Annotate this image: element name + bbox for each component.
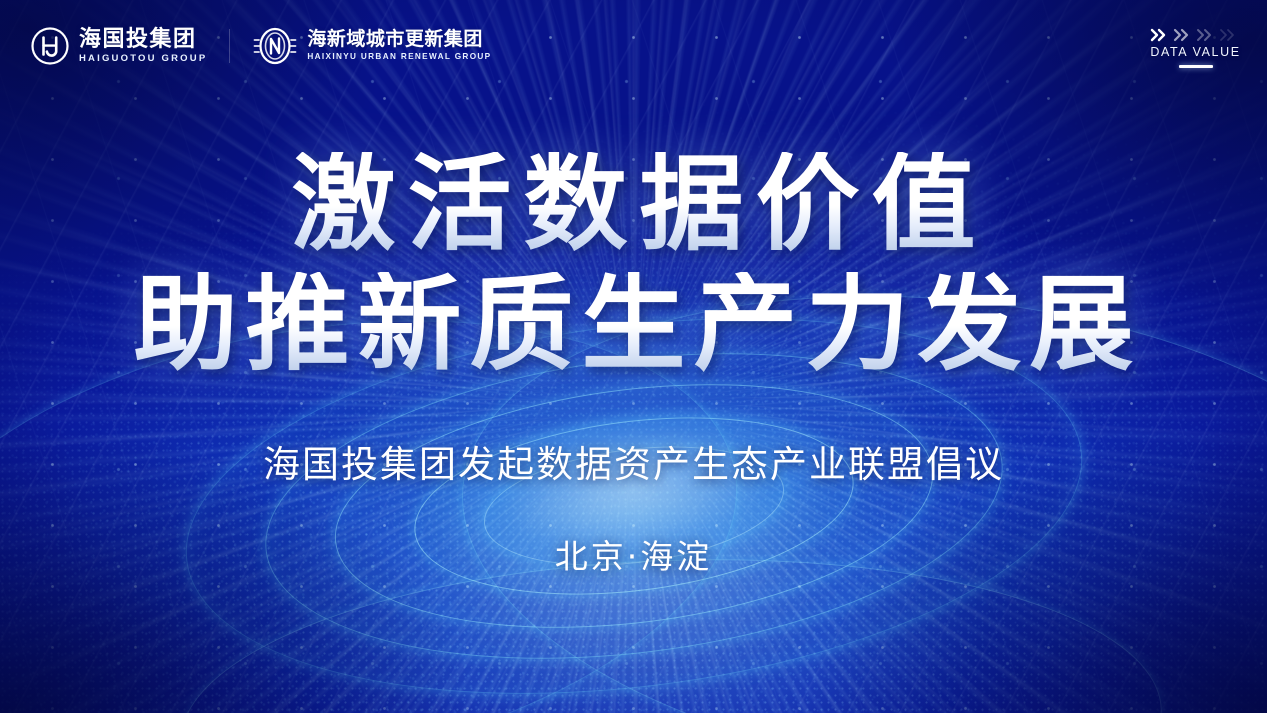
- double-chevron-right-icon: [1173, 28, 1195, 42]
- logo-haixinyu-en: HAIXINYU URBAN RENEWAL GROUP: [307, 53, 491, 61]
- double-chevron-right-icon: [1219, 28, 1241, 42]
- data-value-badge: DATA VALUE: [1150, 28, 1241, 68]
- logo-haiguotou[interactable]: 海国投集团 HAIGUOTOU GROUP: [30, 26, 207, 66]
- logo-haixinyu[interactable]: 海新域城市更新集团 HAIXINYU URBAN RENEWAL GROUP: [252, 26, 491, 66]
- poster-canvas: 海国投集团 HAIGUOTOU GROUP 海新域城市更新集团: [0, 0, 1267, 713]
- logo-haiguotou-en: HAIGUOTOU GROUP: [79, 54, 207, 64]
- subtitle: 海国投集团发起数据资产生态产业联盟倡议: [0, 434, 1267, 488]
- poster-content: 海国投集团 HAIGUOTOU GROUP 海新域城市更新集团: [0, 0, 1267, 713]
- data-value-underline: [1179, 65, 1213, 68]
- headline-line-2: 助推新质生产力发展: [0, 272, 1267, 376]
- logo-bar: 海国投集团 HAIGUOTOU GROUP 海新域城市更新集团: [30, 26, 491, 66]
- double-chevron-right-icon: [1196, 28, 1218, 42]
- data-value-label: DATA VALUE: [1150, 45, 1240, 59]
- logo-haiguotou-cn: 海国投集团: [79, 28, 207, 50]
- logo-haixinyu-text: 海新域城市更新集团 HAIXINYU URBAN RENEWAL GROUP: [307, 30, 491, 61]
- logo-haiguotou-text: 海国投集团 HAIGUOTOU GROUP: [79, 28, 207, 64]
- location-label: 北京·海淀: [0, 530, 1267, 578]
- circle-h-monogram-icon: [30, 26, 70, 66]
- headline-line-1: 激活数据价值: [0, 152, 1267, 256]
- logo-divider: [229, 29, 230, 63]
- oval-n-monogram-icon: [252, 26, 298, 66]
- headline-block: 激活数据价值 助推新质生产力发展: [0, 152, 1267, 376]
- chevron-group: [1150, 28, 1241, 42]
- double-chevron-right-icon: [1150, 28, 1172, 42]
- logo-haixinyu-cn: 海新域城市更新集团: [307, 30, 491, 49]
